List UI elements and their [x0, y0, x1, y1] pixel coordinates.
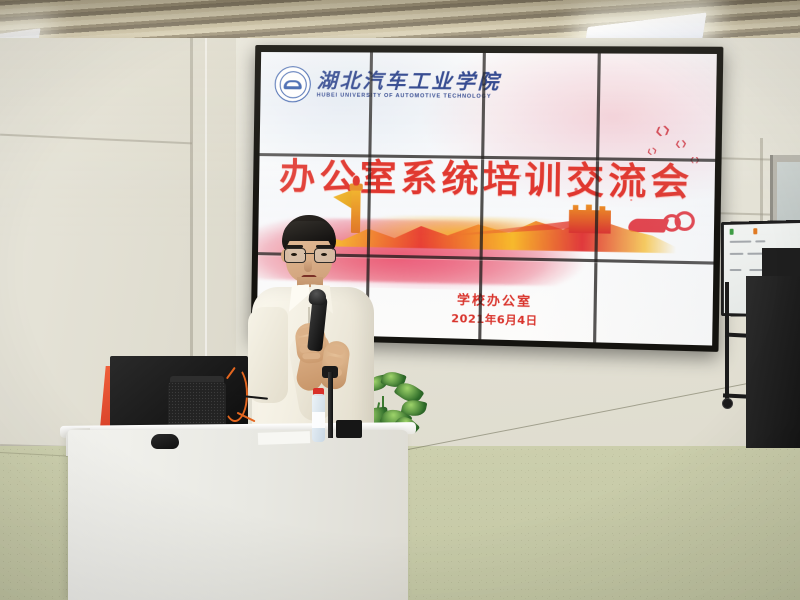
ink-speck: [630, 199, 632, 201]
glasses-bridge: [304, 253, 314, 254]
whiteboard-writing: [730, 253, 744, 255]
eye: [291, 253, 297, 256]
glasses-lens: [284, 248, 306, 263]
ink-speck: [330, 186, 332, 188]
university-name-block: 湖北汽车工业学院 HUBEI UNIVERSITY OF AUTOMOTIVE …: [317, 70, 502, 100]
sleeve-left: [248, 307, 288, 403]
eyebrow: [316, 245, 333, 248]
finger: [325, 355, 344, 366]
university-logo: 湖北汽车工业学院 HUBEI UNIVERSITY OF AUTOMOTIVE …: [274, 66, 501, 104]
flame-icon: [353, 175, 360, 185]
wall-cabinet-top: [762, 248, 800, 276]
bird-icon: ❮❯: [675, 140, 688, 148]
photo-scene: 湖北汽车工业学院 HUBEI UNIVERSITY OF AUTOMOTIVE …: [0, 0, 800, 600]
whiteboard-writing: [730, 269, 742, 271]
ink-speck: [465, 180, 468, 183]
caster-wheel-icon: [722, 398, 733, 409]
magnet-icon: [730, 229, 734, 235]
paper-notes: [258, 431, 310, 445]
ink-speck: [574, 188, 577, 191]
computer-mouse[interactable]: [151, 434, 179, 449]
eyebrow: [286, 245, 303, 248]
watchtower-icon: [569, 198, 612, 234]
car-glyph-icon: [284, 80, 302, 89]
slide-organization: 学校办公室: [457, 289, 533, 310]
black-device: [336, 420, 362, 438]
whiteboard-writing: [747, 253, 763, 255]
glasses-lens: [314, 248, 336, 263]
microphone-stand: [328, 372, 333, 438]
wall-cabinet: [746, 276, 800, 448]
university-name-en: HUBEI UNIVERSITY OF AUTOMOTIVE TECHNOLOG…: [317, 93, 501, 100]
magnet-icon: [753, 228, 757, 234]
bottle-label: [312, 412, 325, 428]
ink-speck: [519, 175, 521, 177]
nose: [304, 260, 312, 272]
finger: [302, 353, 320, 360]
university-crest-icon: [274, 66, 311, 102]
lectern: [68, 430, 408, 600]
whiteboard-writing: [730, 241, 752, 243]
whiteboard-writing: [755, 240, 765, 242]
finger: [326, 344, 344, 356]
hair-front: [283, 221, 335, 241]
slide-date: 2021年6月4日: [451, 310, 538, 329]
eye: [321, 253, 327, 256]
university-name-cn: 湖北汽车工业学院: [317, 70, 501, 91]
whiteboard-post: [725, 282, 729, 400]
